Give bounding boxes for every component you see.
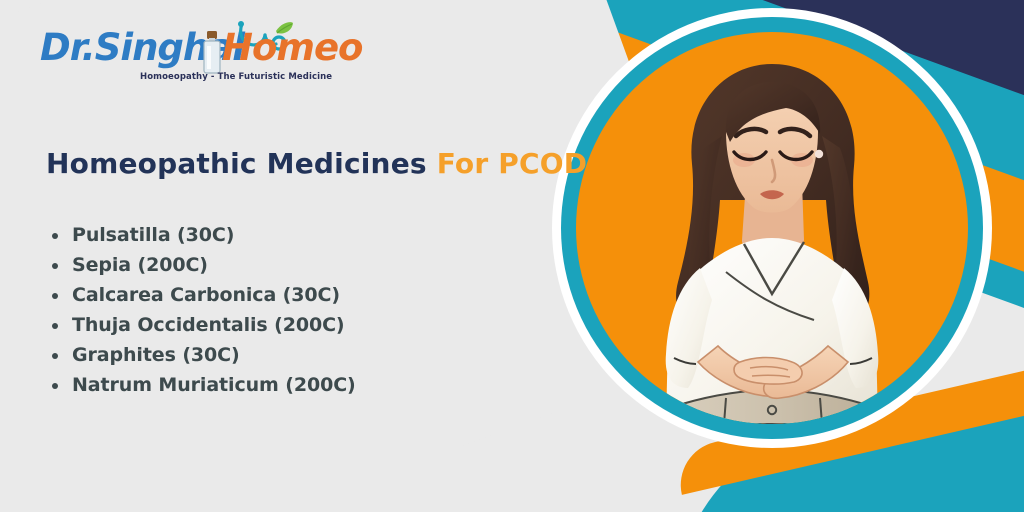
woman-abdominal-pain-illustration (576, 32, 968, 424)
illustration-medallion (552, 8, 992, 448)
medicine-list: Pulsatilla (30C) Sepia (200C) Calcarea C… (46, 224, 356, 404)
title-accent-text: For PCOD (437, 147, 588, 180)
medallion-orange-disc (576, 32, 968, 424)
medicine-bottle-icon (200, 30, 224, 74)
list-item: Sepia (200C) (46, 254, 356, 276)
logo-tagline: Homoeopathy - The Futuristic Medicine (140, 72, 332, 82)
logo-name-secondary: Homeo (222, 26, 362, 69)
page-title: Homeopathic Medicines For PCOD (46, 147, 587, 180)
list-item: Calcarea Carbonica (30C) (46, 284, 356, 306)
list-item: Natrum Muriaticum (200C) (46, 374, 356, 396)
hand-over-abdomen (734, 358, 802, 385)
list-item: Thuja Occidentalis (200C) (46, 314, 356, 336)
list-item: Graphites (30C) (46, 344, 356, 366)
earring (815, 150, 823, 158)
title-primary-text: Homeopathic Medicines (46, 147, 427, 180)
promo-banner: Dr.Singhal Homeo Homoeopathy - The Futur… (0, 0, 1024, 512)
list-item: Pulsatilla (30C) (46, 224, 356, 246)
brand-logo[interactable]: Dr.Singhal Homeo Homoeopathy - The Futur… (40, 24, 340, 88)
